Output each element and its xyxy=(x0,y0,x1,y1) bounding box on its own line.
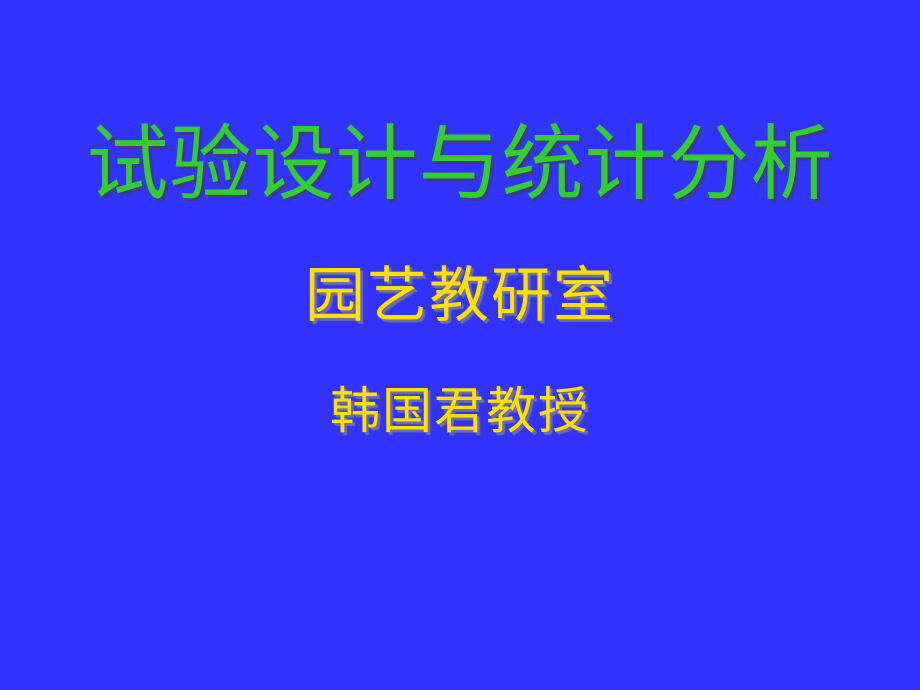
slide-title: 试验设计与统计分析 xyxy=(0,124,920,206)
slide-subtitle-department: 园艺教研室 xyxy=(0,266,920,326)
presentation-slide: 试验设计与统计分析 园艺教研室 韩国君教授 xyxy=(0,0,920,690)
slide-presenter-name: 韩国君教授 xyxy=(0,386,920,436)
